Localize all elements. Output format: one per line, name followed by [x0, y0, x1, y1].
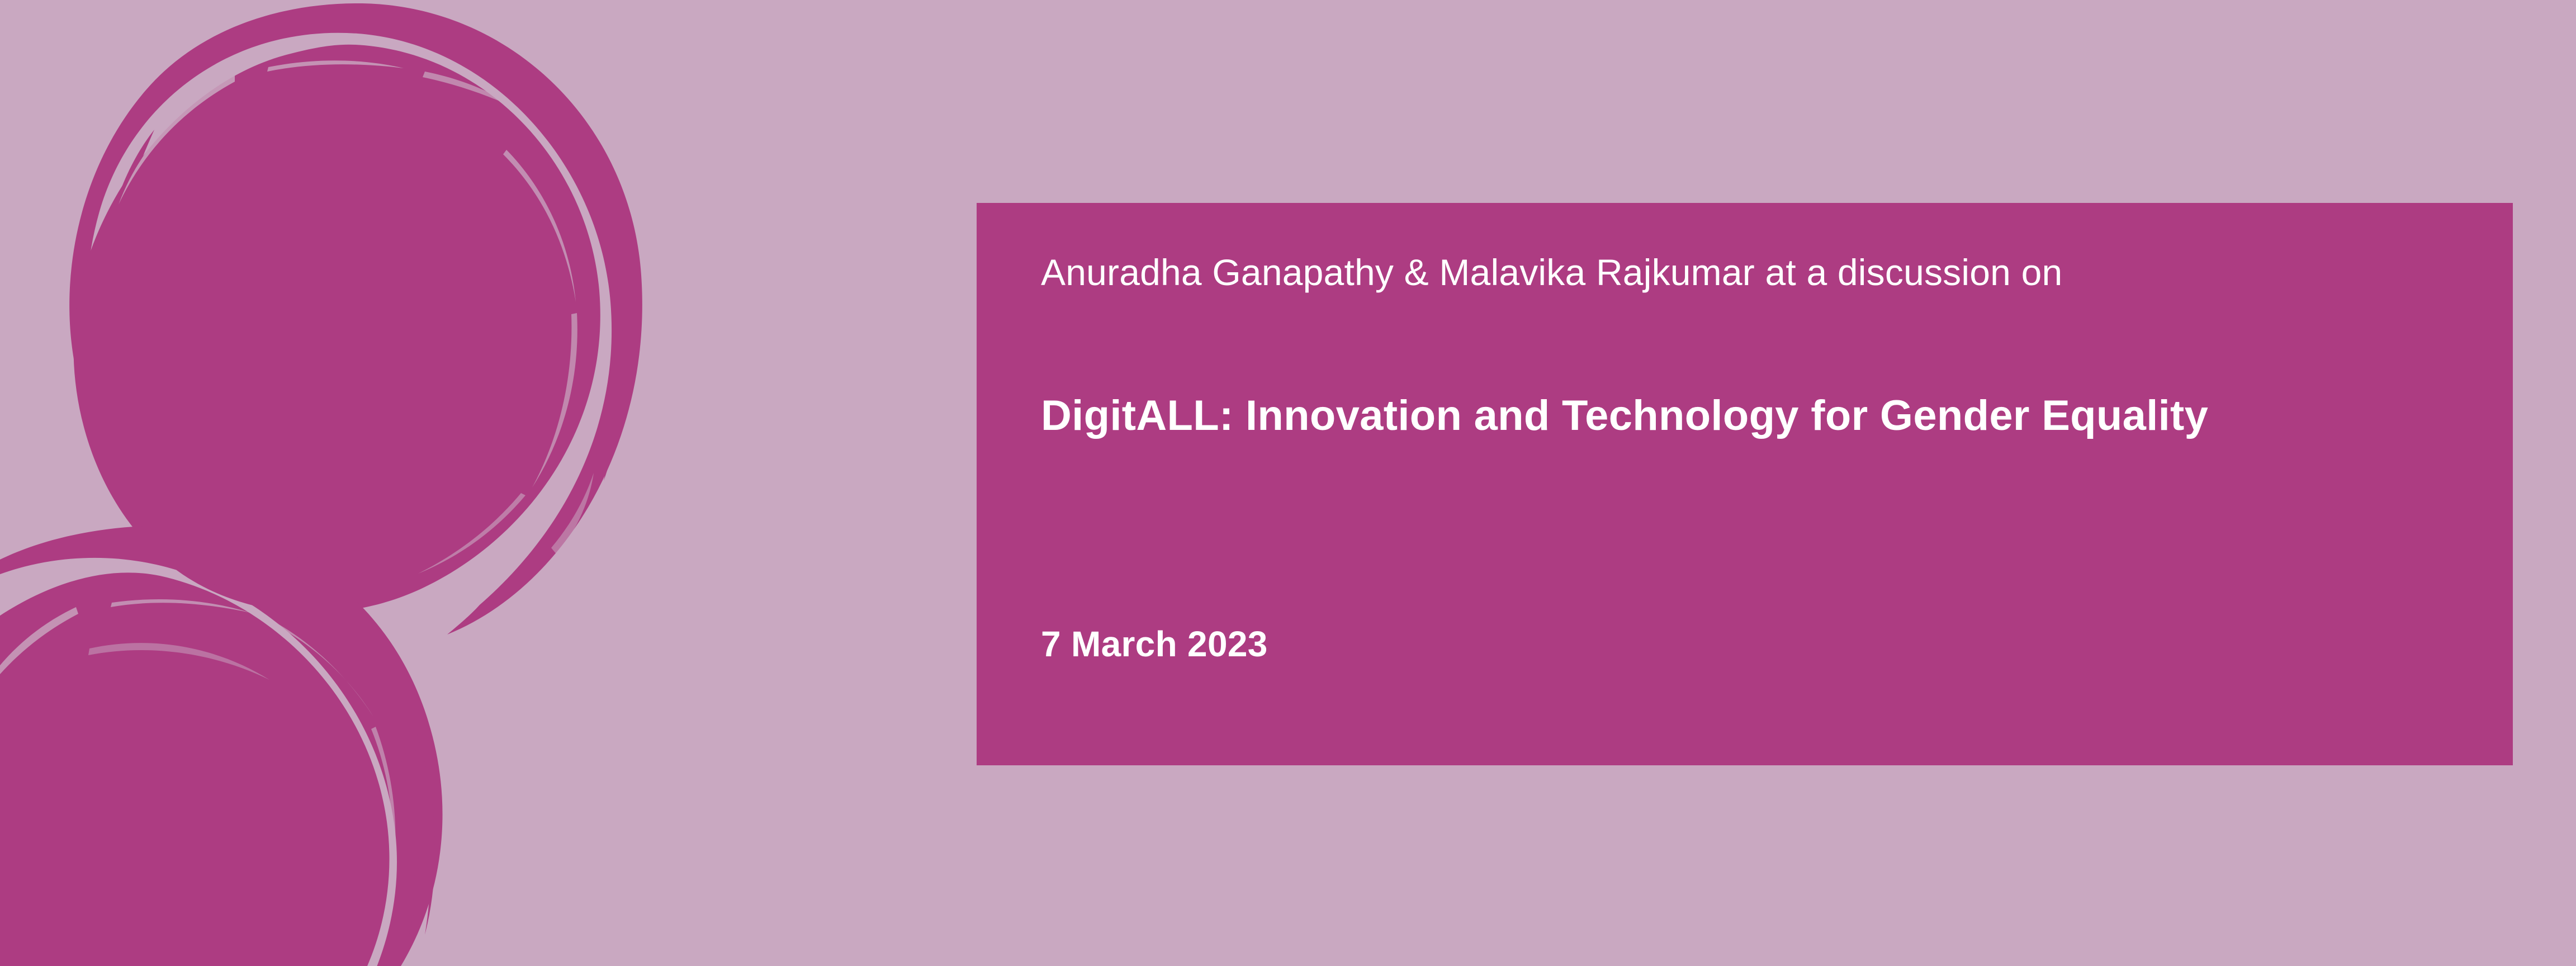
- texture-line-1: [119, 75, 235, 205]
- texture-line-9: [111, 599, 250, 613]
- content-panel: Anuradha Ganapathy & Malavika Rajkumar a…: [977, 203, 2513, 765]
- texture-line-12: [88, 643, 269, 680]
- texture-line-7: [551, 473, 594, 555]
- brush-blob-top: [73, 45, 600, 613]
- brush-circles-svg: [0, 0, 727, 966]
- brush-flick-b: [117, 127, 170, 248]
- texture-line-3: [423, 72, 519, 110]
- texture-line-2: [267, 60, 404, 72]
- event-banner: Anuradha Ganapathy & Malavika Rajkumar a…: [0, 0, 2576, 966]
- brush-circles-decoration: [0, 0, 727, 966]
- brush-ring-bottom-outer: [0, 525, 443, 966]
- texture-line-5: [532, 313, 577, 487]
- brush-flick-e: [394, 733, 419, 935]
- brush-blob-bottom: [0, 572, 390, 966]
- texture-line-6: [418, 493, 525, 574]
- texture-line-11: [371, 727, 395, 888]
- brush-ring-top-outer: [69, 3, 642, 634]
- brush-circle-top: [69, 3, 642, 634]
- brush-flick-c: [604, 263, 623, 481]
- presenters-line: Anuradha Ganapathy & Malavika Rajkumar a…: [1041, 250, 2062, 295]
- texture-line-4: [503, 150, 576, 302]
- event-date: 7 March 2023: [1041, 623, 1268, 665]
- brush-flick-d: [408, 727, 435, 935]
- texture-line-10: [264, 616, 373, 717]
- brush-flick-a: [104, 130, 154, 253]
- brush-circle-bottom: [0, 525, 443, 966]
- event-title: DigitALL: Innovation and Technology for …: [1041, 387, 2394, 444]
- texture-line-8: [0, 607, 78, 731]
